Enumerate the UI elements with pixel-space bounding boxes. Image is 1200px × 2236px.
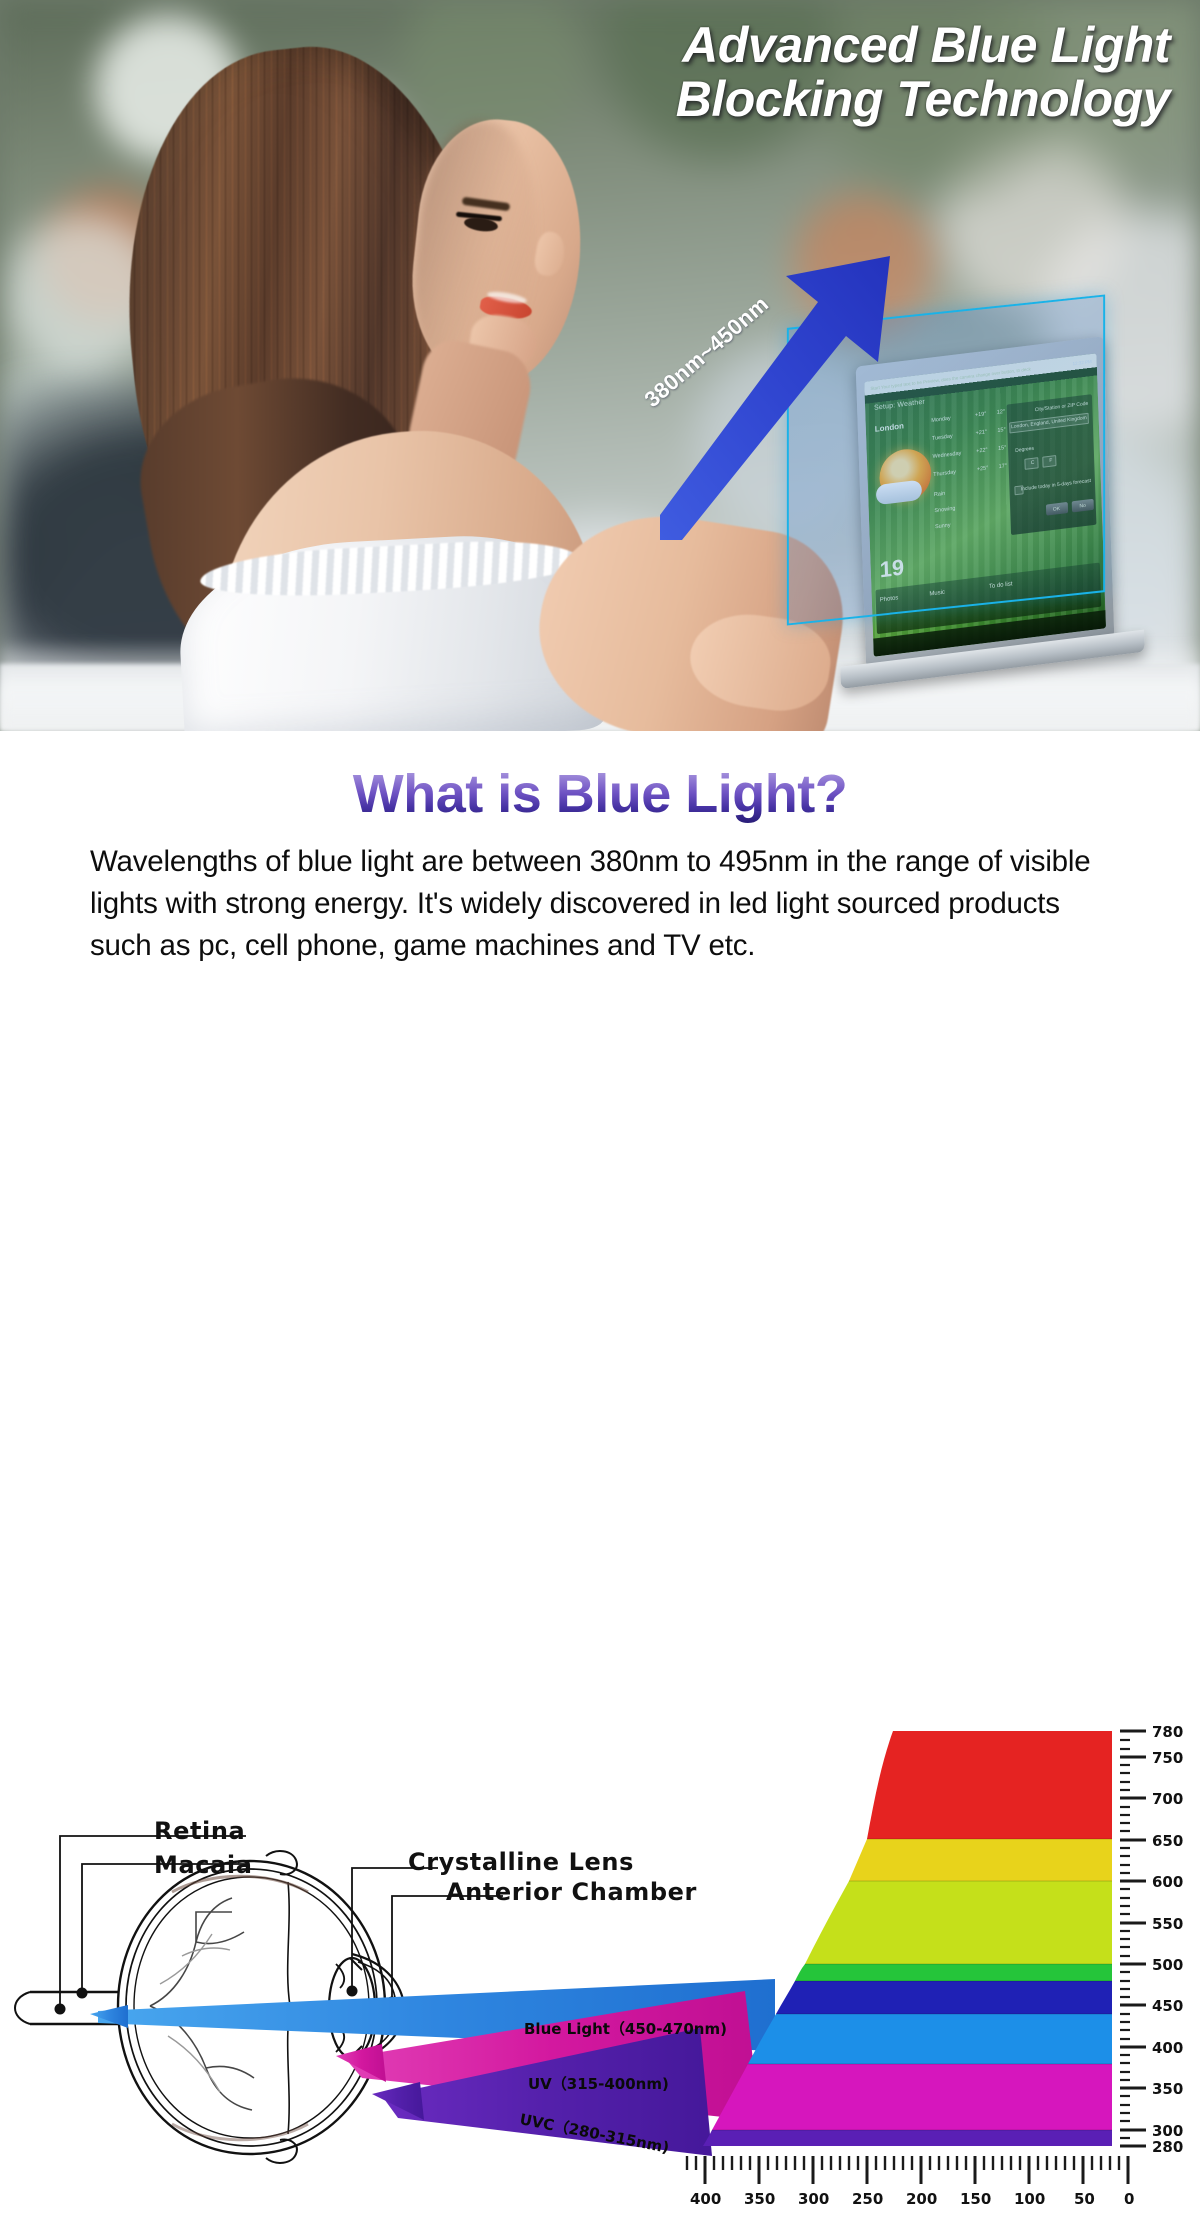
x-axis-ruler <box>687 2156 1128 2184</box>
info-section: What is Blue Light? Wavelengths of blue … <box>0 731 1200 1500</box>
light-beams <box>90 1979 775 2156</box>
x-tick-400: 400 <box>690 2190 721 2208</box>
band-yellow <box>849 1839 1112 1881</box>
hero-banner: 12:32 PM Setup: Weather London 19 Monday… <box>0 0 1200 731</box>
y-tick-780: 780 <box>1152 1723 1183 1741</box>
y-tick-280: 280 <box>1152 2138 1183 2156</box>
y-tick-750: 750 <box>1152 1749 1183 1767</box>
y-tick-700: 700 <box>1152 1790 1183 1808</box>
y-tick-350: 350 <box>1152 2080 1183 2098</box>
section-heading: What is Blue Light? <box>0 763 1200 825</box>
section-paragraph: Wavelengths of blue light are between 38… <box>90 841 1110 967</box>
band-uv <box>712 2064 1112 2130</box>
eye-spectrum-diagram: Retina Macaia Crystalline Lens Anterior … <box>0 1706 1200 2231</box>
label-retina: Retina <box>154 1817 245 1845</box>
band-yellow-green <box>805 1881 1112 1964</box>
band-violet-blue <box>748 2014 1112 2064</box>
x-tick-200: 200 <box>906 2190 937 2208</box>
x-tick-50: 50 <box>1074 2190 1095 2208</box>
headline-line-1: Advanced Blue Light <box>682 17 1170 73</box>
band-red <box>867 1731 1112 1839</box>
y-axis-ruler <box>1120 1731 1146 2146</box>
band-blue <box>776 1981 1112 2014</box>
diagram-svg <box>0 1706 1200 2231</box>
label-anterior-chamber: Anterior Chamber <box>446 1878 697 1906</box>
spectrum-chart <box>703 1731 1112 2146</box>
label-beam-uv: UV（315-400nm) <box>528 2073 669 2094</box>
band-green <box>795 1964 1112 1981</box>
x-axis-minor-ticks <box>687 2156 1119 2170</box>
headline-line-2: Blocking Technology <box>676 71 1170 127</box>
x-tick-250: 250 <box>852 2190 883 2208</box>
y-tick-550: 550 <box>1152 1915 1183 1933</box>
x-tick-100: 100 <box>1014 2190 1045 2208</box>
blue-light-arrow <box>660 250 900 540</box>
y-tick-500: 500 <box>1152 1956 1183 1974</box>
label-macaia: Macaia <box>154 1851 253 1879</box>
x-tick-0: 0 <box>1124 2190 1134 2208</box>
y-axis-minor-ticks <box>1120 1731 1130 2146</box>
y-tick-600: 600 <box>1152 1873 1183 1891</box>
x-tick-350: 350 <box>744 2190 775 2208</box>
label-crystalline-lens: Crystalline Lens <box>408 1848 634 1876</box>
x-tick-300: 300 <box>798 2190 829 2208</box>
y-tick-450: 450 <box>1152 1997 1183 2015</box>
label-beam-blue-light: Blue Light（450-470nm) <box>524 2018 727 2039</box>
y-tick-650: 650 <box>1152 1832 1183 1850</box>
y-tick-400: 400 <box>1152 2039 1183 2057</box>
page-headline: Advanced Blue Light Blocking Technology <box>676 18 1170 126</box>
x-tick-150: 150 <box>960 2190 991 2208</box>
band-uvc <box>703 2130 1112 2146</box>
